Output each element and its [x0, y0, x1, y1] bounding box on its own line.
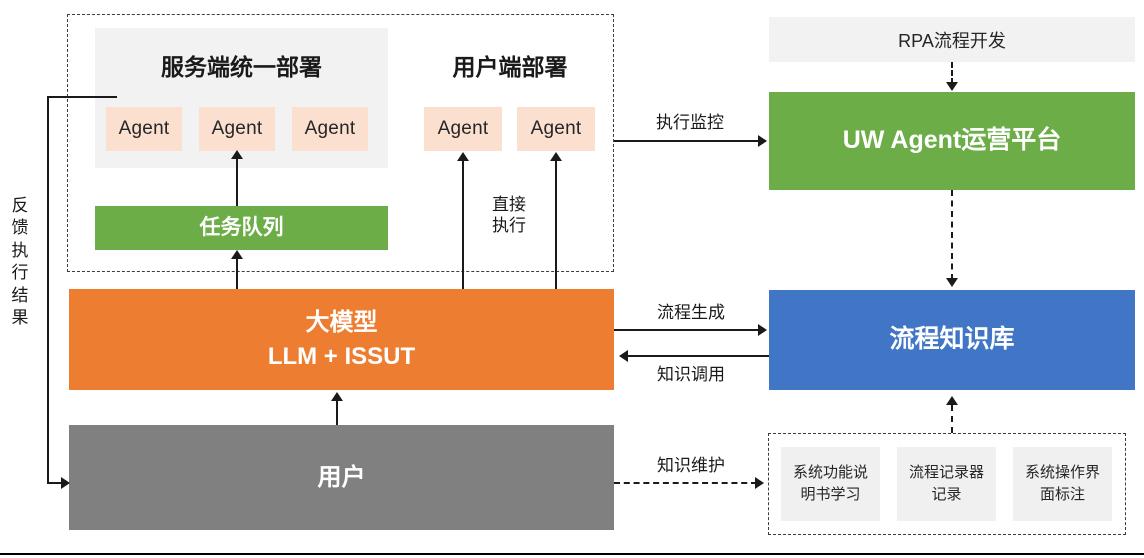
connector-model-to-client-agent-2-arrowhead [550, 152, 562, 161]
knowledge-call-label: 知识调用 [636, 364, 746, 385]
large-model-subtitle: LLM + ISSUT [268, 342, 415, 372]
connector-feedback-vertical [47, 96, 49, 484]
connector-knowledge-call-arrowhead [619, 350, 628, 362]
knowledge-maintain-label: 知识维护 [636, 455, 746, 476]
connector-platform-to-kb [951, 190, 953, 280]
connector-knowledge-maintain [614, 482, 757, 484]
agent-box[interactable]: Agent [292, 107, 368, 151]
connector-user-to-model [336, 400, 338, 425]
client-deployment-caption: 用户端部署 [420, 48, 600, 82]
direct-execution-label-line2: 执行 [478, 215, 540, 236]
knowledge-source-chip[interactable]: 流程记录器 记录 [897, 447, 996, 521]
connector-user-to-model-arrowhead [331, 392, 343, 401]
direct-execution-label: 直接 执行 [478, 194, 540, 237]
connector-model-to-client-agent-1-arrowhead [457, 152, 469, 161]
flow-generate-label: 流程生成 [636, 302, 746, 323]
knowledge-source-chip-line1: 流程记录器 [909, 462, 984, 484]
server-deployment-caption: 服务端统一部署 [95, 48, 388, 82]
connector-model-to-queue [236, 258, 238, 289]
connector-flow-generate-arrowhead [758, 324, 767, 336]
connector-feedback-top [47, 96, 117, 98]
knowledge-source-chip[interactable]: 系统功能说 明书学习 [781, 447, 880, 521]
connector-knowledge-maintain-arrowhead [755, 477, 764, 489]
connector-model-to-queue-arrowhead [231, 250, 243, 259]
knowledge-source-chip-line1: 系统功能说 [793, 462, 868, 484]
feedback-result-label: 反馈执行结果 [10, 195, 30, 330]
connector-rpa-to-platform [951, 62, 953, 84]
exec-monitor-label: 执行监控 [630, 112, 750, 133]
connector-exec-monitor [614, 140, 760, 142]
agent-box[interactable]: Agent [517, 107, 595, 151]
large-model-title: 大模型 [306, 308, 378, 338]
rpa-development-box[interactable]: RPA流程开发 [769, 17, 1135, 62]
connector-model-to-client-agent-1 [462, 160, 464, 289]
direct-execution-label-line1: 直接 [478, 194, 540, 215]
connector-platform-to-kb-arrowhead [946, 278, 958, 287]
knowledge-source-chip-line2: 面标注 [1040, 484, 1085, 506]
knowledge-source-chip-line2: 记录 [931, 484, 961, 506]
agent-box[interactable]: Agent [106, 107, 182, 151]
knowledge-source-chip-line1: 系统操作界 [1025, 462, 1100, 484]
knowledge-source-chip[interactable]: 系统操作界 面标注 [1013, 447, 1112, 521]
agent-box[interactable]: Agent [199, 107, 275, 151]
connector-sources-to-kb [951, 405, 953, 433]
connector-sources-to-kb-arrowhead [946, 396, 958, 405]
architecture-diagram: 服务端统一部署 Agent Agent Agent 用户端部署 Agent Ag… [0, 0, 1144, 558]
connector-knowledge-call [628, 355, 769, 357]
connector-model-to-client-agent-2 [555, 160, 557, 289]
uw-agent-platform-box[interactable]: UW Agent运营平台 [769, 92, 1135, 190]
user-box[interactable]: 用户 [69, 425, 614, 530]
bottom-divider [0, 553, 1144, 555]
connector-feedback-arrowhead [61, 477, 70, 489]
rpa-development-label: RPA流程开发 [898, 27, 1006, 53]
knowledge-source-chip-line2: 明书学习 [800, 484, 860, 506]
agent-box[interactable]: Agent [424, 107, 502, 151]
connector-flow-generate [614, 329, 760, 331]
connector-rpa-to-platform-arrowhead [946, 82, 958, 91]
connector-queue-to-agent [236, 158, 238, 206]
connector-exec-monitor-arrowhead [758, 135, 767, 147]
process-knowledge-base-box[interactable]: 流程知识库 [769, 290, 1135, 390]
connector-queue-to-agent-arrowhead [231, 150, 243, 159]
large-model-box[interactable]: 大模型 LLM + ISSUT [69, 289, 614, 390]
task-queue-box[interactable]: 任务队列 [95, 206, 388, 250]
